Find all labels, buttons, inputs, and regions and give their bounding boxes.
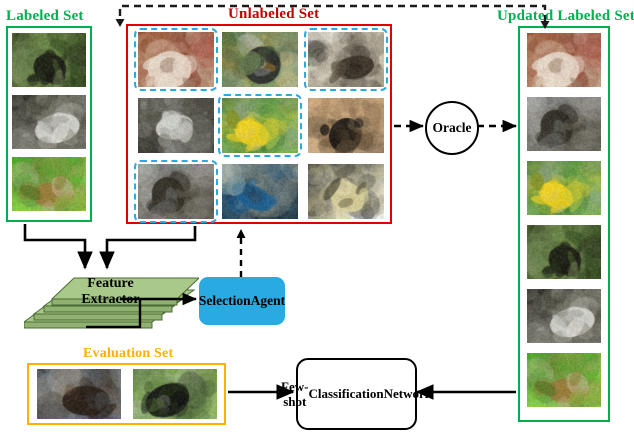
feedback-arrowheads bbox=[116, 19, 550, 29]
feature-extractor-label: FeatureExtractor bbox=[48, 276, 173, 307]
unlabeled-to-extractor-arrow bbox=[107, 226, 195, 268]
feedback-path bbox=[120, 6, 545, 22]
labeled-to-extractor-arrow bbox=[25, 224, 85, 268]
agent-to-unlabeled-arrowhead bbox=[237, 229, 246, 238]
feature-extractor-label-line-2: Extractor bbox=[48, 292, 173, 308]
diagram-canvas: Labeled Set Unlabeled Set Updated Labele… bbox=[0, 0, 634, 438]
feature-extractor-label-line-1: Feature bbox=[48, 276, 173, 292]
connector-layer bbox=[0, 0, 634, 438]
